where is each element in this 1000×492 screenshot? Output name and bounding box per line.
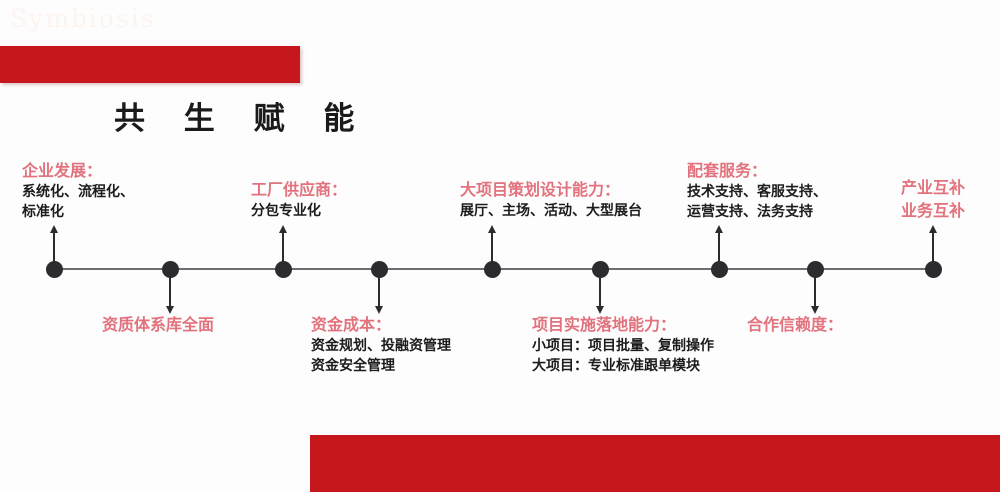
label-heading: 工厂供应商： bbox=[251, 179, 347, 202]
arrow-up-icon bbox=[279, 225, 287, 233]
label-detail-line: 展厅、主场、活动、大型展台 bbox=[460, 202, 642, 222]
label-detail-line: 技术支持、客服支持、 bbox=[687, 183, 827, 203]
label-detail-line: 运营支持、法务支持 bbox=[687, 203, 827, 223]
slide-canvas: Symbiosis 共 生 赋 能 企业发展：系统化、流程化、标准化工厂供应商：… bbox=[0, 0, 1000, 492]
arrow-up-icon bbox=[50, 225, 58, 233]
timeline-connector-up bbox=[282, 232, 284, 270]
label-detail-line: 标准化 bbox=[22, 203, 134, 223]
arrow-down-icon bbox=[811, 306, 819, 314]
arrow-down-icon bbox=[166, 306, 174, 314]
arrow-up-icon bbox=[488, 225, 496, 233]
label-heading: 企业发展： bbox=[22, 160, 134, 183]
footer-bar bbox=[310, 435, 1000, 492]
label-heading-line2: 业务互补 bbox=[901, 200, 965, 223]
label-heading: 资质体系库全面 bbox=[102, 314, 214, 337]
label-detail-line: 系统化、流程化、 bbox=[22, 183, 134, 203]
label-heading: 资金成本： bbox=[311, 314, 451, 337]
arrow-down-icon bbox=[375, 306, 383, 314]
arrow-up-icon bbox=[715, 225, 723, 233]
page-title: 共 生 赋 能 bbox=[114, 93, 368, 138]
timeline-connector-up bbox=[53, 232, 55, 270]
timeline-connector-up bbox=[932, 232, 934, 270]
label-detail-line: 大项目：专业标准跟单模块 bbox=[532, 357, 714, 377]
timeline-label-above: 产业互补业务互补 bbox=[901, 177, 965, 222]
label-detail-line: 资金规划、投融资管理 bbox=[311, 337, 451, 357]
label-heading: 合作信赖度： bbox=[747, 314, 843, 337]
timeline-label-above: 配套服务：技术支持、客服支持、运营支持、法务支持 bbox=[687, 160, 827, 222]
arrow-down-icon bbox=[596, 306, 604, 314]
label-detail-line: 资金安全管理 bbox=[311, 357, 451, 377]
timeline-connector-up bbox=[718, 232, 720, 270]
label-detail-line: 小项目：项目批量、复制操作 bbox=[532, 337, 714, 357]
label-heading: 大项目策划设计能力： bbox=[460, 179, 642, 202]
timeline-label-below: 资质体系库全面 bbox=[102, 314, 214, 337]
symbiosis-badge bbox=[0, 46, 300, 83]
label-heading: 配套服务： bbox=[687, 160, 827, 183]
timeline-label-above: 企业发展：系统化、流程化、标准化 bbox=[22, 160, 134, 222]
label-detail-line: 分包专业化 bbox=[251, 202, 347, 222]
arrow-up-icon bbox=[929, 225, 937, 233]
timeline-label-above: 工厂供应商：分包专业化 bbox=[251, 179, 347, 222]
timeline-label-below: 合作信赖度： bbox=[747, 314, 843, 337]
timeline-label-below: 资金成本：资金规划、投融资管理资金安全管理 bbox=[311, 314, 451, 376]
symbiosis-badge-label: Symbiosis bbox=[10, 4, 156, 33]
label-heading: 产业互补 bbox=[901, 177, 965, 200]
timeline-label-above: 大项目策划设计能力：展厅、主场、活动、大型展台 bbox=[460, 179, 642, 222]
timeline-label-below: 项目实施落地能力：小项目：项目批量、复制操作大项目：专业标准跟单模块 bbox=[532, 314, 714, 376]
timeline-connector-up bbox=[491, 232, 493, 270]
label-heading: 项目实施落地能力： bbox=[532, 314, 714, 337]
